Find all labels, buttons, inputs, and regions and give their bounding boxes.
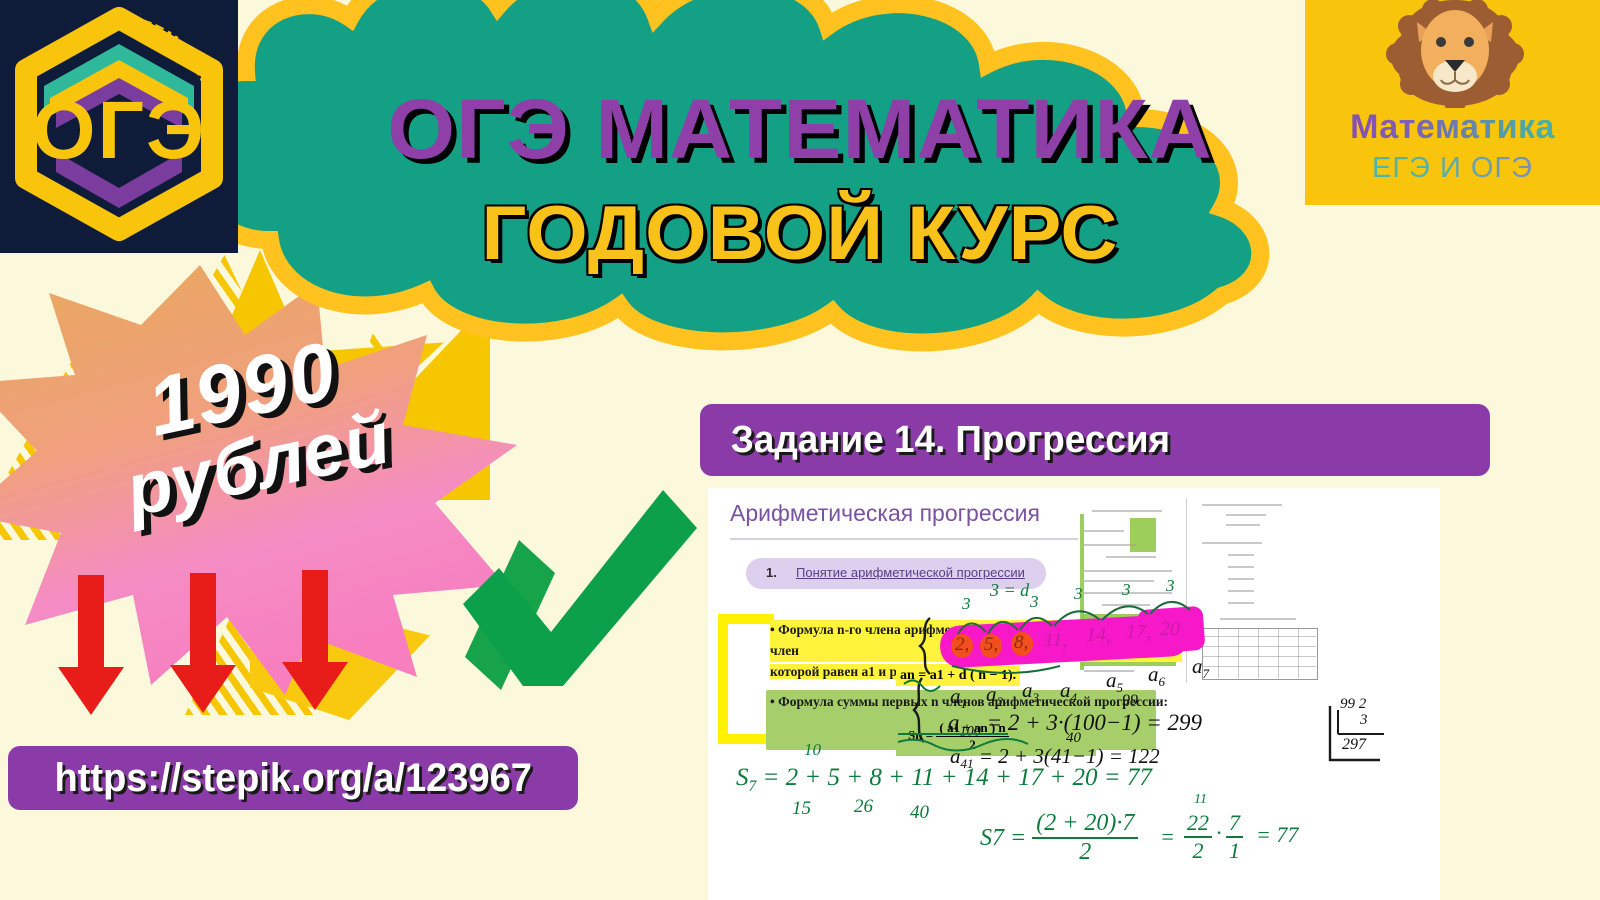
hw-term-a6: a6	[1148, 662, 1165, 690]
hw-sum-result: = 77	[1256, 822, 1298, 848]
hw-diff-label: 3 = d	[990, 580, 1029, 601]
handwriting-layer: 2, 5, 8, 11, 14, 17, 20	[708, 488, 1440, 900]
hw-seq-7: 20	[1160, 618, 1180, 641]
hw-sum-frac-3: 7 1	[1226, 810, 1243, 864]
down-arrow-icon-3	[282, 570, 348, 710]
course-url-text: https://stepik.org/a/123967	[54, 756, 531, 801]
hw-sum-partial-10: 10	[804, 740, 821, 760]
headline-block: ОГЭ МАТЕМАТИКА ГОДОВОЙ КУРС	[330, 88, 1270, 272]
hw-term-a3: a3	[1022, 678, 1039, 706]
hw-diff-6: 3	[1166, 576, 1175, 596]
down-arrow-icon-1	[58, 575, 124, 715]
hw-seq-1: 2,	[955, 634, 969, 656]
hw-sum-dot: ·	[1216, 820, 1222, 846]
hw-sum-formula: S7 = (2 + 20)·7 2	[980, 810, 1138, 866]
hw-term-a4: a4	[1060, 678, 1077, 706]
hw-term-a5: a5	[1106, 668, 1123, 696]
hw-sum-frac3-num: 7	[1226, 810, 1243, 838]
worksheet-panel: Арифметическая прогрессия 1. Понятие ари…	[708, 488, 1440, 900]
hw-seq-3: 8,	[1014, 632, 1028, 654]
hw-calc-a100-note: 99	[1122, 692, 1138, 710]
hw-seq-6: 17,	[1126, 621, 1151, 644]
hw-sum-formula-lhs: S7 =	[980, 825, 1026, 852]
svg-text:ОГЭ: ОГЭ	[32, 85, 207, 176]
hw-seq-5: 14,	[1086, 624, 1111, 647]
oge-logo: ОГЭ МАТЕМАТИКА	[0, 0, 238, 253]
task-header-banner: Задание 14. Прогрессия	[700, 404, 1490, 476]
hw-diff-5: 3	[1122, 580, 1131, 600]
hw-division-bottom: 297	[1342, 736, 1366, 754]
hw-sum-frac2-den: 2	[1184, 838, 1212, 864]
hw-term-a7: a7	[1192, 654, 1209, 682]
course-url-button[interactable]: https://stepik.org/a/123967	[8, 746, 578, 810]
hw-sum-frac3-den: 1	[1226, 838, 1243, 864]
hw-sum-formula-den: 2	[1032, 839, 1138, 866]
lion-badge-title: Математика	[1305, 108, 1600, 147]
hw-sum-frac2-num: 22	[1184, 810, 1212, 838]
lion-badge-subtitle: ЕГЭ И ОГЭ	[1305, 152, 1600, 185]
hw-sum-partial-26: 26	[854, 796, 873, 818]
page-title: ОГЭ МАТЕМАТИКА	[311, 88, 1289, 170]
lion-head-icon	[1375, 0, 1535, 108]
hw-sum-eq: =	[1160, 824, 1175, 850]
hw-calc-a41-note: 40	[1066, 730, 1081, 747]
hw-sum-line: S7 = 2 + 5 + 8 + 11 + 14 + 17 + 20 = 77	[736, 764, 1152, 796]
hw-diff-4: 3	[1074, 584, 1083, 604]
hw-sum-frac-cancel: 11	[1194, 792, 1207, 808]
hw-division-top: 99 2	[1340, 696, 1366, 713]
hw-sum-frac-2: 22 2	[1184, 810, 1212, 864]
hw-division-mid: 3	[1360, 712, 1368, 729]
green-checkmark-icon	[455, 470, 705, 730]
poster-canvas: 1990 рублей ОГЭ МАТЕМАТИКА ГОДОВОЙ КУРС …	[0, 0, 1600, 900]
hw-sum-formula-num: (2 + 20)·7	[1032, 810, 1138, 839]
lion-badge: Математика ЕГЭ И ОГЭ	[1305, 0, 1600, 205]
hw-seq-4: 11,	[1044, 629, 1068, 652]
hw-diff-3: 3	[1030, 592, 1039, 612]
page-subtitle: ГОДОВОЙ КУРС	[311, 196, 1289, 272]
hw-sum-partial-40: 40	[910, 802, 929, 824]
hw-term-a1: a1	[950, 684, 967, 712]
hw-seq-2: 5,	[984, 634, 998, 656]
task-header-label: Задание 14. Прогрессия	[731, 419, 1170, 462]
hw-term-a2: a2	[986, 682, 1003, 710]
hw-diff-1: 3	[962, 594, 971, 614]
down-arrow-icon-2	[170, 573, 236, 713]
hw-sum-partial-15: 15	[792, 798, 811, 820]
